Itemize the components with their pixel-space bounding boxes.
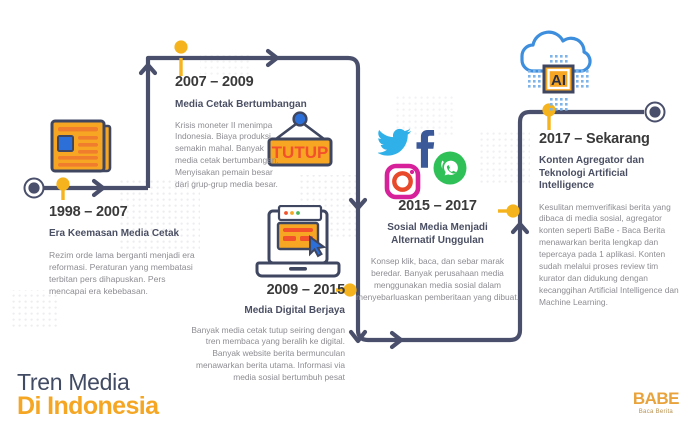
timeline-start-marker	[25, 179, 44, 198]
brand-tagline: Baca Berita	[633, 409, 679, 415]
ai-cloud-icon: AI	[500, 18, 605, 128]
page-title-line2: Di Indonesia	[17, 394, 158, 420]
milestone-body: Krisis moneter II menimpa Indonesia. Bia…	[175, 120, 279, 192]
milestone-subtitle-line1: Konten Agregator dan	[539, 155, 681, 168]
milestone-block-2015-2017: 2015 – 2017 Sosial Media Menjadi Alterna…	[355, 198, 520, 304]
milestone-subtitle: Sosial Media Menjadi Alternatif Unggulan	[355, 222, 520, 247]
milestone-subtitle: Media Cetak Bertumbangan	[175, 99, 335, 112]
milestone-years: 2009 – 2015	[190, 282, 345, 298]
milestone-years: 1998 – 2007	[49, 204, 199, 220]
milestone-body: Kesulitan memverifikasi berita yang diba…	[539, 202, 681, 309]
milestone-subtitle: Media Digital Berjaya	[190, 305, 345, 318]
milestone-subtitle-line2: Alternatif Unggulan	[355, 235, 520, 248]
whatsapp-icon	[434, 152, 467, 185]
milestone-subtitle: Konten Agregator dan Teknologi Artificia…	[539, 155, 681, 193]
instagram-icon	[387, 166, 418, 197]
milestone-subtitle: Era Keemasan Media Cetak	[49, 228, 199, 241]
milestone-subtitle-line1: Sosial Media Menjadi	[355, 222, 520, 235]
brand-logo: BABE Baca Berita	[633, 390, 679, 415]
milestone-pin-2007	[174, 40, 187, 76]
milestone-block-1998-2007: 1998 – 2007 Era Keemasan Media Cetak Rez…	[49, 204, 199, 297]
ai-chip-label: AI	[551, 72, 566, 89]
timeline-end-marker	[646, 103, 665, 122]
milestone-body: Rezim orde lama berganti menjadi era ref…	[49, 249, 199, 298]
page-title-line1: Tren Media	[17, 371, 158, 394]
newspaper-icon	[44, 108, 116, 185]
milestone-block-2007-2009: 2007 – 2009 Media Cetak Bertumbangan Kri…	[175, 74, 335, 191]
laptop-icon	[255, 205, 341, 288]
brand-name: BABE	[633, 390, 679, 407]
milestone-body: Banyak media cetak tutup seiring dengan …	[190, 325, 345, 385]
milestone-years: 2015 – 2017	[355, 198, 520, 214]
social-media-icons	[378, 124, 474, 207]
milestone-years: 2007 – 2009	[175, 74, 335, 90]
facebook-icon	[417, 130, 435, 168]
milestone-body: Konsep klik, baca, dan sebar marak bered…	[355, 256, 520, 304]
milestone-block-2017-sekarang: 2017 – Sekarang Konten Agregator dan Tek…	[539, 131, 681, 309]
milestone-years: 2017 – Sekarang	[539, 131, 681, 147]
infographic-canvas: TUTUP	[0, 0, 696, 435]
milestone-subtitle-line2: Teknologi Artificial	[539, 168, 681, 181]
milestone-block-2009-2015: 2009 – 2015 Media Digital Berjaya Banyak…	[190, 282, 345, 384]
page-title: Tren Media Di Indonesia	[17, 371, 158, 420]
milestone-subtitle-line3: Intelligence	[539, 180, 681, 193]
twitter-icon	[378, 128, 411, 156]
